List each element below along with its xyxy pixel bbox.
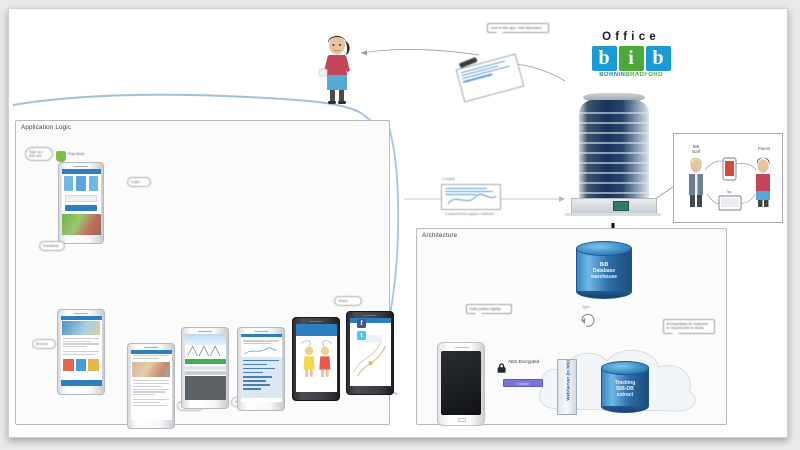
svg-text:Parent: Parent	[758, 146, 771, 151]
callout-note-arch-2: Anonymised ID matched to record sets in …	[663, 319, 715, 334]
callout-note-app-3: Browse	[32, 339, 56, 349]
callout-note-mid-left: Consent forms signed / collected	[445, 212, 505, 216]
lock-icon	[496, 361, 507, 373]
svg-text:Tap: Tap	[726, 190, 732, 194]
db-cloud-line3: extract	[617, 392, 633, 398]
callout-note-app-2: Login	[127, 177, 151, 187]
facebook-icon[interactable]: f	[357, 319, 366, 328]
person-parent-illustration	[315, 31, 359, 105]
callout-note-arch-sync: Sync	[582, 305, 590, 309]
callout-note-app-7: Feedback	[39, 241, 65, 251]
svg-text:staff: staff	[692, 149, 701, 154]
building-body	[579, 100, 649, 200]
panel-architecture-title: Architecture	[422, 232, 457, 239]
webserver-box: WebServer (in bib)	[557, 359, 577, 415]
phone-avatar	[292, 317, 340, 401]
db-main-line3: warehouse	[591, 274, 617, 280]
webserver-label: WebServer	[566, 377, 571, 401]
logo-tiles: b i b	[575, 46, 687, 71]
webserver-sub: (in bib)	[566, 360, 571, 375]
sync-icon	[579, 311, 601, 327]
aes-encrypted-label: AES Encrypted	[508, 359, 548, 364]
building-entrance	[613, 201, 629, 211]
logo-subtitle: BORNINBRADFORD	[575, 72, 687, 78]
play-store-icon	[56, 151, 66, 162]
callout-note-app-1: Sign up / first use	[25, 147, 53, 161]
linked-badge: Linked	[503, 379, 543, 387]
logo-subtitle-bradford: BRADFORD	[625, 72, 663, 78]
diagram-canvas: Application Logic Architecture Office b …	[8, 8, 788, 438]
phone-chart	[181, 327, 229, 409]
logo-word-office: Office	[575, 31, 687, 43]
encryption-indicator: AES Encrypted	[496, 359, 548, 379]
phone-list	[237, 327, 285, 411]
twitter-icon[interactable]: t	[357, 331, 366, 340]
phone-feed	[57, 309, 105, 395]
logo-tile-b2: b	[646, 46, 671, 71]
phone-signup	[58, 162, 104, 244]
callout-note-arch-1: Data pulled nightly	[466, 304, 512, 314]
office-building-illustration	[565, 93, 661, 223]
phone-device-architecture	[437, 342, 485, 426]
database-bib-extract: Tracking BiB-DB extract	[601, 361, 649, 413]
database-bib-main: BiB Database warehouse	[576, 241, 632, 299]
office-bib-logo: Office b i b BORNINBRADFORD	[575, 31, 687, 87]
play-store-label: Play Store	[68, 152, 85, 156]
consent-card-mid	[441, 184, 501, 210]
consent-card-mid-label: Consent	[442, 177, 455, 181]
inset-use-case-box: BiB staff Parent	[673, 133, 783, 223]
logo-tile-b1: b	[592, 46, 617, 71]
panel-application-logic-title: Application Logic	[21, 124, 71, 131]
phone-map	[346, 311, 394, 395]
callout-note-app-share: Share	[334, 296, 362, 306]
logo-tile-i: i	[619, 46, 644, 71]
consent-card-top	[456, 54, 525, 103]
building-ground-line	[565, 213, 661, 216]
callout-note-top-right: Link to the app / self discovery	[487, 23, 549, 33]
phone-article	[127, 343, 175, 429]
screenshot-root: Application Logic Architecture Office b …	[0, 0, 800, 450]
logo-subtitle-bornin: BORNIN	[599, 72, 625, 78]
